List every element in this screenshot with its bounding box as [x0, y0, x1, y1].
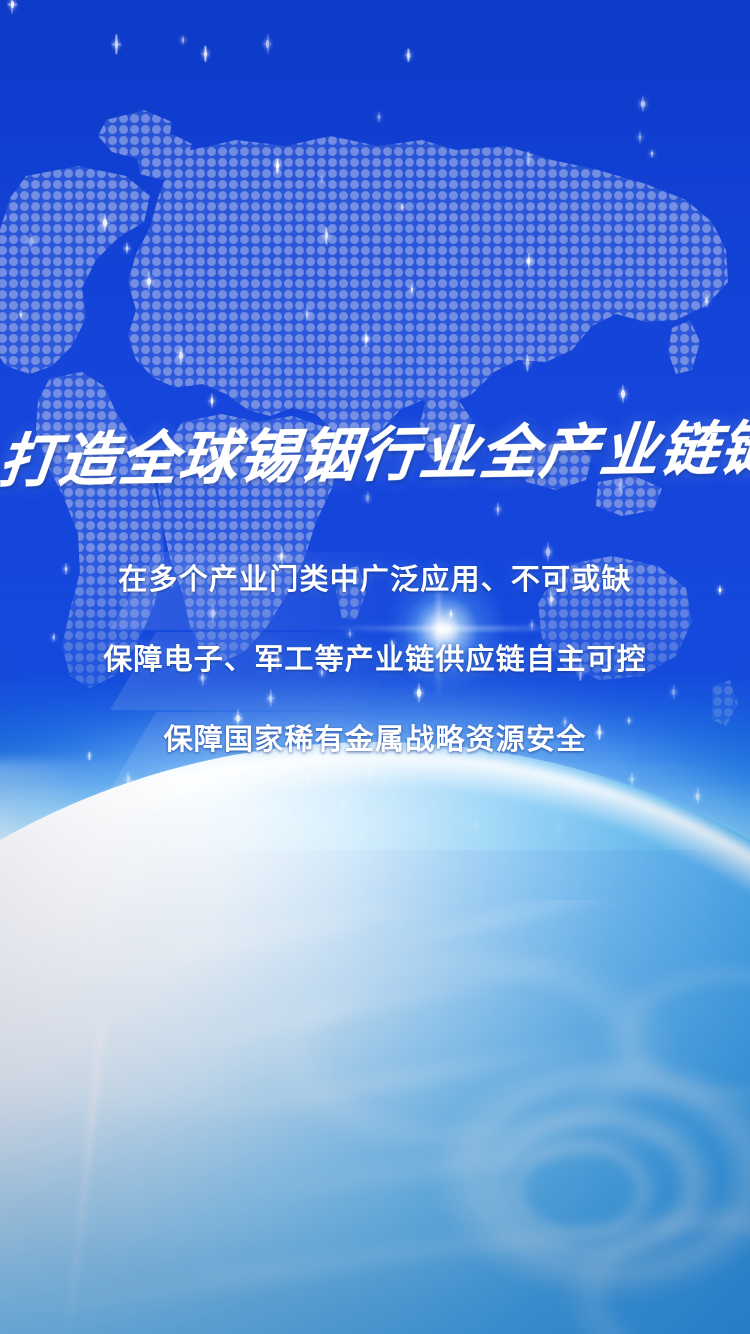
cloud-swirl-layer — [0, 900, 750, 1334]
page-title: 打造全球锡铟行业全产业链链主 — [0, 411, 750, 498]
poster-canvas: 打造全球锡铟行业全产业链链主 在多个产业门类中广泛应用、不可或缺 保障电子、军工… — [0, 0, 750, 1334]
subtitle-line-2: 保障电子、军工等产业链供应链自主可控 — [0, 640, 750, 680]
subtitle-line-3: 保障国家稀有金属战略资源安全 — [0, 720, 750, 760]
subtitle-line-1: 在多个产业门类中广泛应用、不可或缺 — [0, 560, 750, 600]
cloud-band — [11, 1219, 528, 1324]
